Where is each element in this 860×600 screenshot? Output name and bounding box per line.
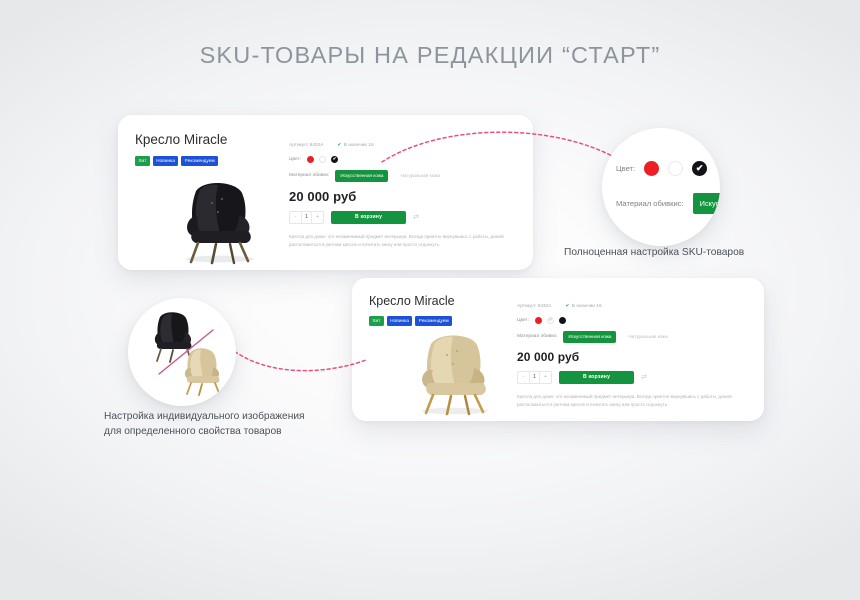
color-swatches: ✔ bbox=[535, 317, 566, 324]
quantity-increment[interactable]: + bbox=[540, 371, 551, 384]
poster-stage: SKU-ТОВАРЫ НА РЕДАКЦИИ “СТАРТ” Кресло Mi… bbox=[0, 0, 860, 600]
material-pills: Искусственная кожа Натуральная кожа bbox=[563, 331, 673, 342]
product-description: Кресла для дома- это незаменимый предмет… bbox=[517, 393, 745, 410]
product-card-1: Кресло Miracle Хит Новинка Рекомендуем bbox=[118, 115, 533, 270]
badge-list: Хит Новинка Рекомендуем bbox=[369, 316, 452, 326]
connector-line-bottom bbox=[228, 340, 368, 388]
magnifier-circle-sku-options: Цвет: ✔ Материал обивкис: Искусс bbox=[602, 128, 720, 246]
product-description: Кресла для дома- это незаменимый предмет… bbox=[289, 233, 517, 250]
meta-row: Артикул: 9432A ✔ В наличии 16 bbox=[517, 304, 749, 309]
color-swatch-white[interactable] bbox=[668, 161, 683, 176]
material-pill-artificial[interactable]: Искусс bbox=[693, 193, 720, 214]
magnified-options: Цвет: ✔ Материал обивкис: Искусс bbox=[616, 161, 720, 231]
caption-sku-settings: Полноценная настройка SKU-товаров bbox=[564, 246, 744, 261]
material-label: Материал обивкис: bbox=[616, 199, 684, 208]
color-swatch-red[interactable] bbox=[644, 161, 659, 176]
material-pill-artificial[interactable]: Искусственная кожа bbox=[563, 331, 616, 342]
variant-image-beige-chair bbox=[175, 344, 227, 396]
check-icon: ✔ bbox=[331, 156, 338, 163]
add-to-cart-button[interactable]: В корзину bbox=[559, 371, 634, 384]
material-pills: Искусственная кожа Натуральная кожа bbox=[335, 170, 445, 181]
product-price: 20 000 руб bbox=[289, 189, 521, 204]
magnified-color-row: Цвет: ✔ bbox=[616, 161, 720, 176]
magnified-material-row: Материал обивкис: Искусс bbox=[616, 193, 720, 214]
check-icon: ✔ bbox=[337, 143, 341, 148]
sku-code: Артикул: 9432A bbox=[289, 143, 323, 148]
color-swatches: ✔ bbox=[644, 161, 707, 176]
product-price: 20 000 руб bbox=[517, 350, 749, 364]
product-details: Артикул: 9432A ✔ В наличии 16 Цвет: ✔ bbox=[517, 304, 749, 409]
material-option-row: Материал обивки: Искусственная кожа Нату… bbox=[517, 331, 749, 342]
badge-hit: Хит bbox=[135, 156, 150, 166]
product-image-beige-chair bbox=[397, 326, 509, 414]
add-to-cart-button[interactable]: В корзину bbox=[331, 211, 406, 224]
badge-hit: Хит bbox=[369, 316, 384, 326]
stock-status: ✔ В наличии 16 bbox=[337, 143, 373, 148]
badge-new: Новинка bbox=[153, 156, 179, 166]
color-swatch-white[interactable]: ✔ bbox=[547, 317, 554, 324]
caption-variant-images: Настройка индивидуального изображения дл… bbox=[104, 410, 344, 440]
quantity-value[interactable]: 1 bbox=[529, 371, 540, 384]
stock-label: В наличии 16 bbox=[572, 304, 602, 309]
product-card-2: Кресло Miracle Хит Новинка Рекомендуем bbox=[352, 278, 764, 421]
badge-new: Новинка bbox=[387, 316, 413, 326]
color-label: Цвет: bbox=[616, 164, 635, 173]
product-title: Кресло Miracle bbox=[135, 132, 227, 147]
compare-icon[interactable]: ⇄ bbox=[413, 214, 419, 221]
material-label: Материал обивки: bbox=[517, 334, 557, 339]
color-swatch-black[interactable]: ✔ bbox=[692, 161, 707, 176]
quantity-stepper[interactable]: - 1 + bbox=[517, 371, 552, 384]
product-details: Артикул: 9432A ✔ В наличии 16 Цвет: ✔ bbox=[289, 143, 521, 249]
chair-comparison bbox=[128, 298, 236, 406]
color-swatch-black[interactable] bbox=[559, 317, 566, 324]
caption-line-2: для определенного свойства товаров bbox=[104, 425, 344, 440]
buy-row: - 1 + В корзину ⇄ bbox=[289, 211, 521, 224]
quantity-decrement[interactable]: - bbox=[290, 211, 301, 224]
color-option-row: Цвет: ✔ bbox=[289, 156, 521, 163]
color-label: Цвет: bbox=[517, 318, 529, 323]
compare-icon[interactable]: ⇄ bbox=[641, 374, 647, 381]
color-swatch-black[interactable]: ✔ bbox=[331, 156, 338, 163]
material-label: Материал обивки: bbox=[289, 173, 329, 178]
check-icon: ✔ bbox=[565, 304, 569, 309]
badge-recommend: Рекомендуем bbox=[181, 156, 218, 166]
material-pill-artificial[interactable]: Искусственная кожа bbox=[335, 170, 388, 181]
material-pill-natural[interactable]: Натуральная кожа bbox=[623, 331, 672, 342]
check-icon: ✔ bbox=[692, 161, 707, 176]
badge-recommend: Рекомендуем bbox=[415, 316, 452, 326]
quantity-stepper[interactable]: - 1 + bbox=[289, 211, 324, 224]
color-swatch-white[interactable] bbox=[319, 156, 326, 163]
product-title: Кресло Miracle bbox=[369, 294, 455, 308]
material-option-row: Материал обивки: Искусственная кожа Нату… bbox=[289, 170, 521, 181]
product-image-black-chair bbox=[160, 173, 275, 263]
color-swatch-red[interactable] bbox=[307, 156, 314, 163]
sku-code: Артикул: 9432A bbox=[517, 304, 551, 309]
material-pill-natural[interactable]: Натуральная кожа bbox=[395, 170, 444, 181]
quantity-decrement[interactable]: - bbox=[518, 371, 529, 384]
meta-row: Артикул: 9432A ✔ В наличии 16 bbox=[289, 143, 521, 148]
buy-row: - 1 + В корзину ⇄ bbox=[517, 371, 749, 384]
magnifier-circle-variant-images bbox=[128, 298, 236, 406]
color-swatch-red[interactable] bbox=[535, 317, 542, 324]
stock-label: В наличии 16 bbox=[344, 143, 374, 148]
color-option-row: Цвет: ✔ bbox=[517, 317, 749, 324]
page-title: SKU-ТОВАРЫ НА РЕДАКЦИИ “СТАРТ” bbox=[0, 42, 860, 69]
color-label: Цвет: bbox=[289, 157, 301, 162]
color-swatches: ✔ bbox=[307, 156, 338, 163]
quantity-increment[interactable]: + bbox=[312, 211, 323, 224]
badge-list: Хит Новинка Рекомендуем bbox=[135, 156, 218, 166]
caption-line-1: Настройка индивидуального изображения bbox=[104, 410, 344, 425]
check-icon: ✔ bbox=[548, 318, 553, 323]
quantity-value[interactable]: 1 bbox=[301, 211, 312, 224]
stock-status: ✔ В наличии 16 bbox=[565, 304, 601, 309]
